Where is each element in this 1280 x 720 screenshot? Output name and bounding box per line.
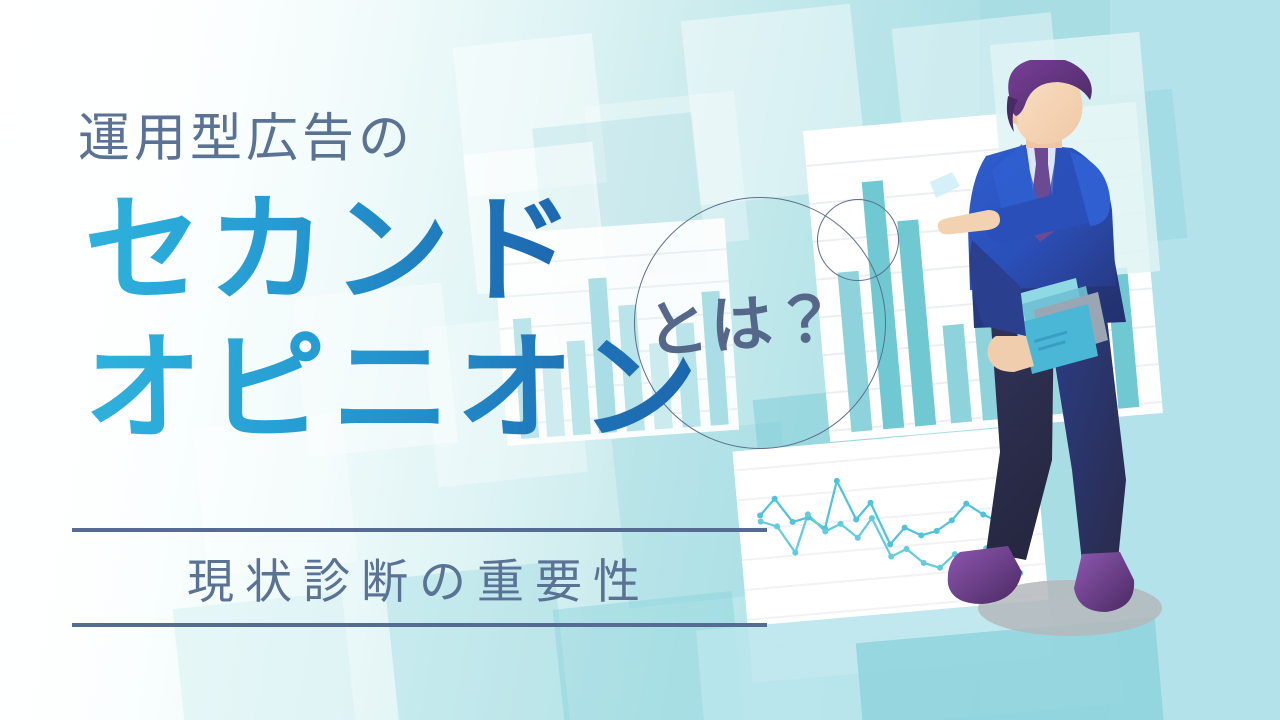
subtitle-text: 現状診断の重要性 [0,543,838,612]
pointer-paper [930,172,960,198]
businessman-illustration [930,60,1190,670]
kicker-text: 運用型広告の [78,96,414,171]
shoe-back [1074,552,1134,612]
banner-canvas: 運用型広告の セカンド オピニオン とは？ 現状診断の重要性 [0,0,1280,720]
holding-hand [988,336,1034,372]
divider-bottom [72,623,767,627]
headline-line-1: セカンド [84,192,580,310]
line-point [757,518,764,525]
divider-top [72,528,767,532]
question-badge-text: とは？ [643,267,841,370]
headline-line-2: オピニオン [84,330,704,448]
